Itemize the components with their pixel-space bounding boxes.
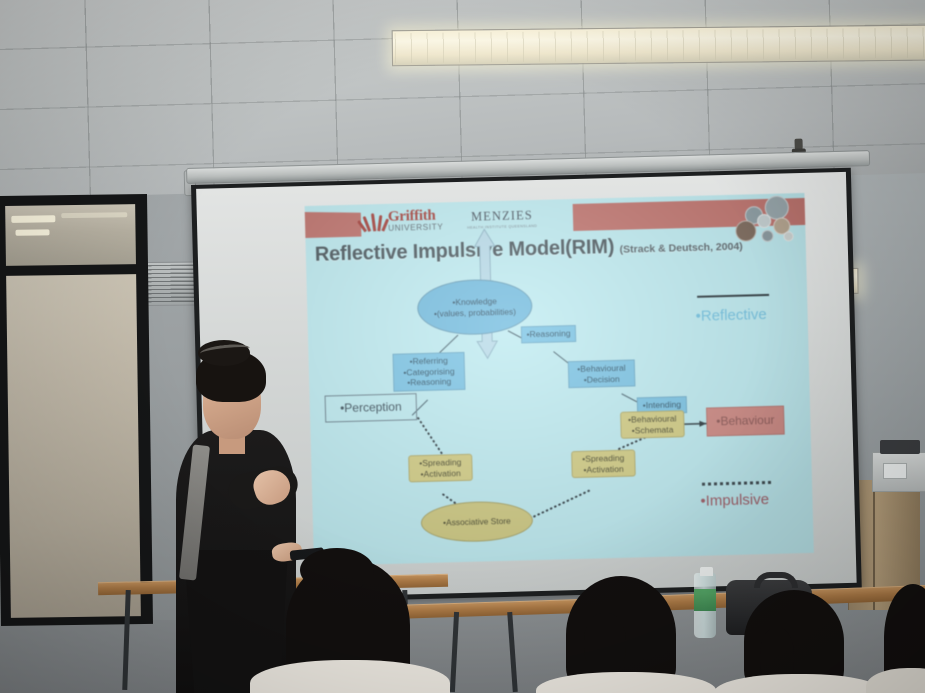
node-associative-store-label: •Associative Store <box>443 515 511 527</box>
door-transom-window <box>5 204 136 266</box>
node-behavioural-schemata-label: •Behavioural •Schemata <box>628 413 677 435</box>
ceiling-light-1 <box>392 23 925 66</box>
node-knowledge-label: •Knowledge •(values, probabilities) <box>433 296 516 319</box>
node-reasoning: •Reasoning <box>521 325 576 343</box>
node-referring: •Referring •Categorising •Reasoning <box>392 352 465 392</box>
bottle-cap <box>700 567 713 576</box>
node-spreading-activation-right-label: •Spreading •Activation <box>582 453 624 475</box>
node-perception: •Perception <box>325 393 418 422</box>
door-panel <box>6 274 141 618</box>
equipment-top-device <box>880 440 920 454</box>
node-spreading-activation-left: •Spreading •Activation <box>408 454 473 483</box>
node-referring-label: •Referring •Categorising •Reasoning <box>403 355 455 388</box>
node-spreading-activation-left-label: •Spreading •Activation <box>419 457 461 479</box>
legend-impulsive-label: •Impulsive <box>700 491 769 510</box>
lecture-room-photo: Griffith UNIVERSITY MENZIES HEALTH INSTI… <box>0 0 925 693</box>
wall-equipment-box <box>872 452 925 492</box>
legend-reflective-label: •Reflective <box>695 306 767 325</box>
node-behavioural-decision: •Behavioural •Decision <box>568 359 636 388</box>
node-perception-label: •Perception <box>340 400 402 417</box>
node-intending-label: •Intending <box>643 399 682 410</box>
backpack-strap <box>754 572 798 588</box>
node-behavioural-schemata: •Behavioural •Schemata <box>620 410 685 439</box>
node-behaviour: •Behaviour <box>706 406 785 437</box>
diagram-connectors <box>305 193 814 566</box>
door[interactable] <box>0 194 153 626</box>
node-behavioural-decision-label: •Behavioural •Decision <box>577 363 626 385</box>
bottle-label <box>694 589 716 611</box>
node-spreading-activation-right: •Spreading •Activation <box>571 449 636 478</box>
node-reasoning-label: •Reasoning <box>526 328 570 339</box>
node-behaviour-label: •Behaviour <box>716 413 775 430</box>
projected-slide: Griffith UNIVERSITY MENZIES HEALTH INSTI… <box>305 193 814 566</box>
